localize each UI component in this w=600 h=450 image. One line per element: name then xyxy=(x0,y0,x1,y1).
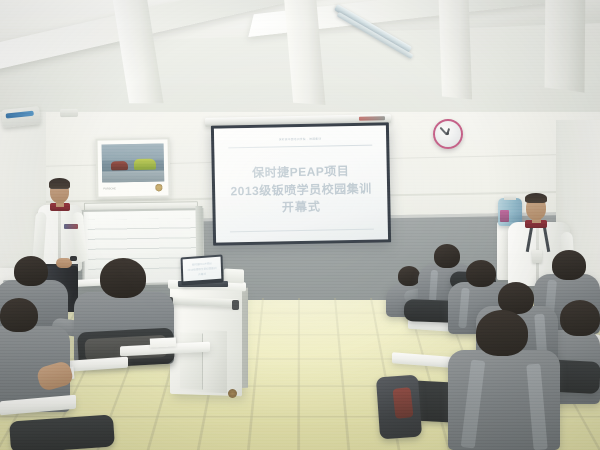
student-head xyxy=(560,300,600,336)
wristwatch-icon xyxy=(70,256,77,261)
screen-brand-label xyxy=(359,116,385,121)
podium-caster-wheel xyxy=(228,389,237,398)
notepaper xyxy=(150,337,176,347)
podium-shelf-cap xyxy=(232,300,239,310)
slide-footer-divider xyxy=(230,228,374,232)
poster-image xyxy=(102,143,165,182)
student-head xyxy=(14,256,48,286)
student-head xyxy=(552,250,586,280)
clock-center-pin xyxy=(446,132,449,135)
poster-logo xyxy=(155,183,162,191)
framed-poster: PORSCHE xyxy=(95,137,170,198)
podium-cabinet-door[interactable] xyxy=(180,332,203,389)
projection-screen: 保时捷中国培训学院 · 校园集训 保时捷PEAP项目 2013级钣喷学员校园集训… xyxy=(211,122,391,245)
student-head xyxy=(466,260,496,287)
ceiling-beam xyxy=(545,0,586,93)
chair xyxy=(9,414,115,450)
screen-bracket xyxy=(60,109,78,117)
backpack-accent xyxy=(392,387,413,419)
slide-header-text: 保时捷中国培训学院 · 校园集训 xyxy=(231,136,369,143)
projector-lens-strip xyxy=(6,111,34,119)
presenter-left-pocket xyxy=(64,224,78,229)
poster-track xyxy=(102,170,164,182)
poster-car-red xyxy=(111,161,128,170)
poster-car-green xyxy=(134,159,156,170)
poster-caption: PORSCHE xyxy=(103,187,115,190)
poster-sky xyxy=(102,143,164,160)
water-bottle-label xyxy=(500,210,509,222)
student-head xyxy=(434,244,460,268)
water-bottle-cap xyxy=(504,194,516,200)
student-head xyxy=(0,298,38,332)
ceiling-beam xyxy=(438,0,472,100)
student-head xyxy=(476,310,528,356)
laptop[interactable]: 保时捷PEAP项目 2013级钣喷学员校园集训 开幕式 xyxy=(181,255,224,286)
slide-title-line-3: 开幕式 xyxy=(215,196,387,216)
id-badge xyxy=(532,250,542,263)
student-head xyxy=(100,258,146,298)
student-head xyxy=(398,266,420,286)
presenter-right-hair xyxy=(525,193,547,203)
laptop-display: 保时捷PEAP项目 2013级钣喷学员校园集训 开幕式 xyxy=(183,257,222,282)
wall-clock xyxy=(433,119,463,149)
classroom-photo: PORSCHE 保时捷中国培训学院 · 校园集训 保时捷PEAP项目 2013级… xyxy=(0,0,600,450)
projection-screen-surface: 保时捷中国培训学院 · 校园集训 保时捷PEAP项目 2013级钣喷学员校园集训… xyxy=(214,125,388,242)
glasses-icon xyxy=(51,188,68,193)
